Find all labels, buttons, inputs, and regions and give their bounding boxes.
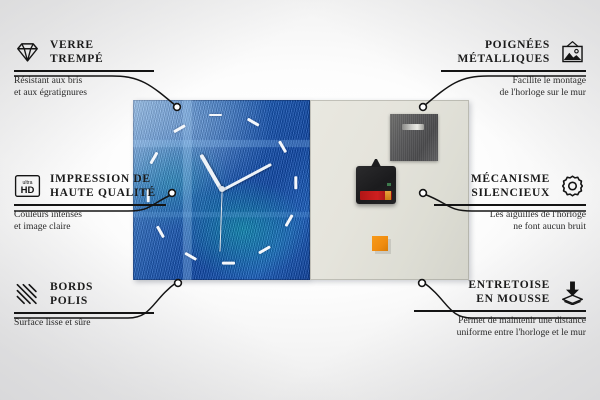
- callout-sub-line2: ne font aucun bruit: [434, 221, 586, 234]
- callout-title: VERRE TREMPÉ: [50, 38, 103, 66]
- callout-title-line2: TREMPÉ: [50, 52, 103, 66]
- callout-sub-line2: de l'horloge sur le mur: [441, 87, 586, 100]
- callout-rule: [14, 70, 154, 72]
- mechanism-hook: [368, 159, 384, 167]
- callout-rule: [14, 312, 154, 314]
- hour-marker: [294, 176, 297, 189]
- clock-mechanism: [356, 166, 396, 204]
- callout-sub-line1: Facilite le montage: [441, 75, 586, 88]
- metal-hanger-plate: [390, 114, 438, 161]
- battery-terminal: [385, 191, 391, 200]
- callout-title: BORDS POLIS: [50, 280, 93, 308]
- callout-sub-line1: Surface lisse et sûre: [14, 317, 154, 330]
- callout-rule: [434, 204, 586, 206]
- callout-poignees-metalliques: POIGNÉES MÉTALLIQUES Facilite le montage…: [441, 38, 586, 100]
- callout-sub-line2: et image claire: [14, 221, 169, 234]
- callout-title-line1: MÉCANISME: [471, 172, 550, 186]
- callout-rule: [414, 310, 586, 312]
- hanger-slot: [402, 124, 424, 130]
- hands-hub: [219, 186, 225, 192]
- gear-icon: [559, 173, 586, 199]
- callout-title: POIGNÉES MÉTALLIQUES: [458, 38, 550, 66]
- callout-header: MÉCANISME SILENCIEUX: [434, 172, 586, 200]
- callout-header: ultra HD IMPRESSION DE HAUTE QUALITÉ: [14, 172, 169, 200]
- callout-sub-line1: Les aiguilles de l'horloge: [434, 209, 586, 222]
- mechanism-detail: [387, 183, 391, 186]
- hour-marker: [209, 114, 222, 117]
- callout-header: POIGNÉES MÉTALLIQUES: [441, 38, 586, 66]
- callout-sub-line2: uniforme entre l'horloge et le mur: [414, 327, 586, 340]
- callout-title-line2: EN MOUSSE: [468, 292, 550, 306]
- foam-spacer-arrow-icon: [559, 279, 586, 305]
- callout-impression-haute-qualite: ultra HD IMPRESSION DE HAUTE QUALITÉ Cou…: [14, 172, 169, 234]
- ultra-hd-icon: ultra HD: [14, 173, 41, 199]
- diamond-icon: [14, 39, 41, 65]
- callout-header: BORDS POLIS: [14, 280, 154, 308]
- callout-entretoise-en-mousse: ENTRETOISE EN MOUSSE Permet de maintenir…: [414, 278, 586, 340]
- callout-subtitle: Surface lisse et sûre: [14, 317, 154, 330]
- callout-title-line2: SILENCIEUX: [471, 186, 550, 200]
- foam-spacer: [372, 236, 388, 251]
- callout-sub-line1: Résistant aux bris: [14, 75, 154, 88]
- callout-title-line1: BORDS: [50, 280, 93, 294]
- product-image: [133, 100, 469, 282]
- picture-frame-hanger-icon: [559, 39, 586, 65]
- callout-subtitle: Permet de maintenir une distance uniform…: [414, 315, 586, 340]
- callout-sub-line1: Couleurs intenses: [14, 209, 169, 222]
- callout-rule: [14, 204, 166, 206]
- callout-title-line2: POLIS: [50, 294, 93, 308]
- callout-sub-line2: et aux égratignures: [14, 87, 154, 100]
- callout-subtitle: Couleurs intenses et image claire: [14, 209, 169, 234]
- ultra-hd-icon-bottom-text: HD: [21, 185, 35, 196]
- callout-title: ENTRETOISE EN MOUSSE: [468, 278, 550, 306]
- callout-title-line2: HAUTE QUALITÉ: [50, 186, 156, 200]
- callout-title-line1: ENTRETOISE: [468, 278, 550, 292]
- hour-marker: [222, 262, 235, 265]
- callout-subtitle: Les aiguilles de l'horloge ne font aucun…: [434, 209, 586, 234]
- callout-subtitle: Facilite le montage de l'horloge sur le …: [441, 75, 586, 100]
- callout-header: VERRE TREMPÉ: [14, 38, 154, 66]
- infographic-canvas: VERRE TREMPÉ Résistant aux bris et aux é…: [0, 0, 600, 400]
- callout-title-line1: POIGNÉES: [458, 38, 550, 52]
- callout-title-line1: IMPRESSION DE: [50, 172, 156, 186]
- callout-subtitle: Résistant aux bris et aux égratignures: [14, 75, 154, 100]
- polished-edges-icon: [14, 281, 41, 307]
- callout-title: IMPRESSION DE HAUTE QUALITÉ: [50, 172, 156, 200]
- callout-title: MÉCANISME SILENCIEUX: [471, 172, 550, 200]
- callout-title-line1: VERRE: [50, 38, 103, 52]
- callout-header: ENTRETOISE EN MOUSSE: [414, 278, 586, 306]
- callout-verre-trempe: VERRE TREMPÉ Résistant aux bris et aux é…: [14, 38, 154, 100]
- callout-rule: [441, 70, 586, 72]
- callout-sub-line1: Permet de maintenir une distance: [414, 315, 586, 328]
- battery: [360, 191, 392, 200]
- callout-mecanisme-silencieux: MÉCANISME SILENCIEUX Les aiguilles de l'…: [434, 172, 586, 234]
- callout-bords-polis: BORDS POLIS Surface lisse et sûre: [14, 280, 154, 329]
- callout-title-line2: MÉTALLIQUES: [458, 52, 550, 66]
